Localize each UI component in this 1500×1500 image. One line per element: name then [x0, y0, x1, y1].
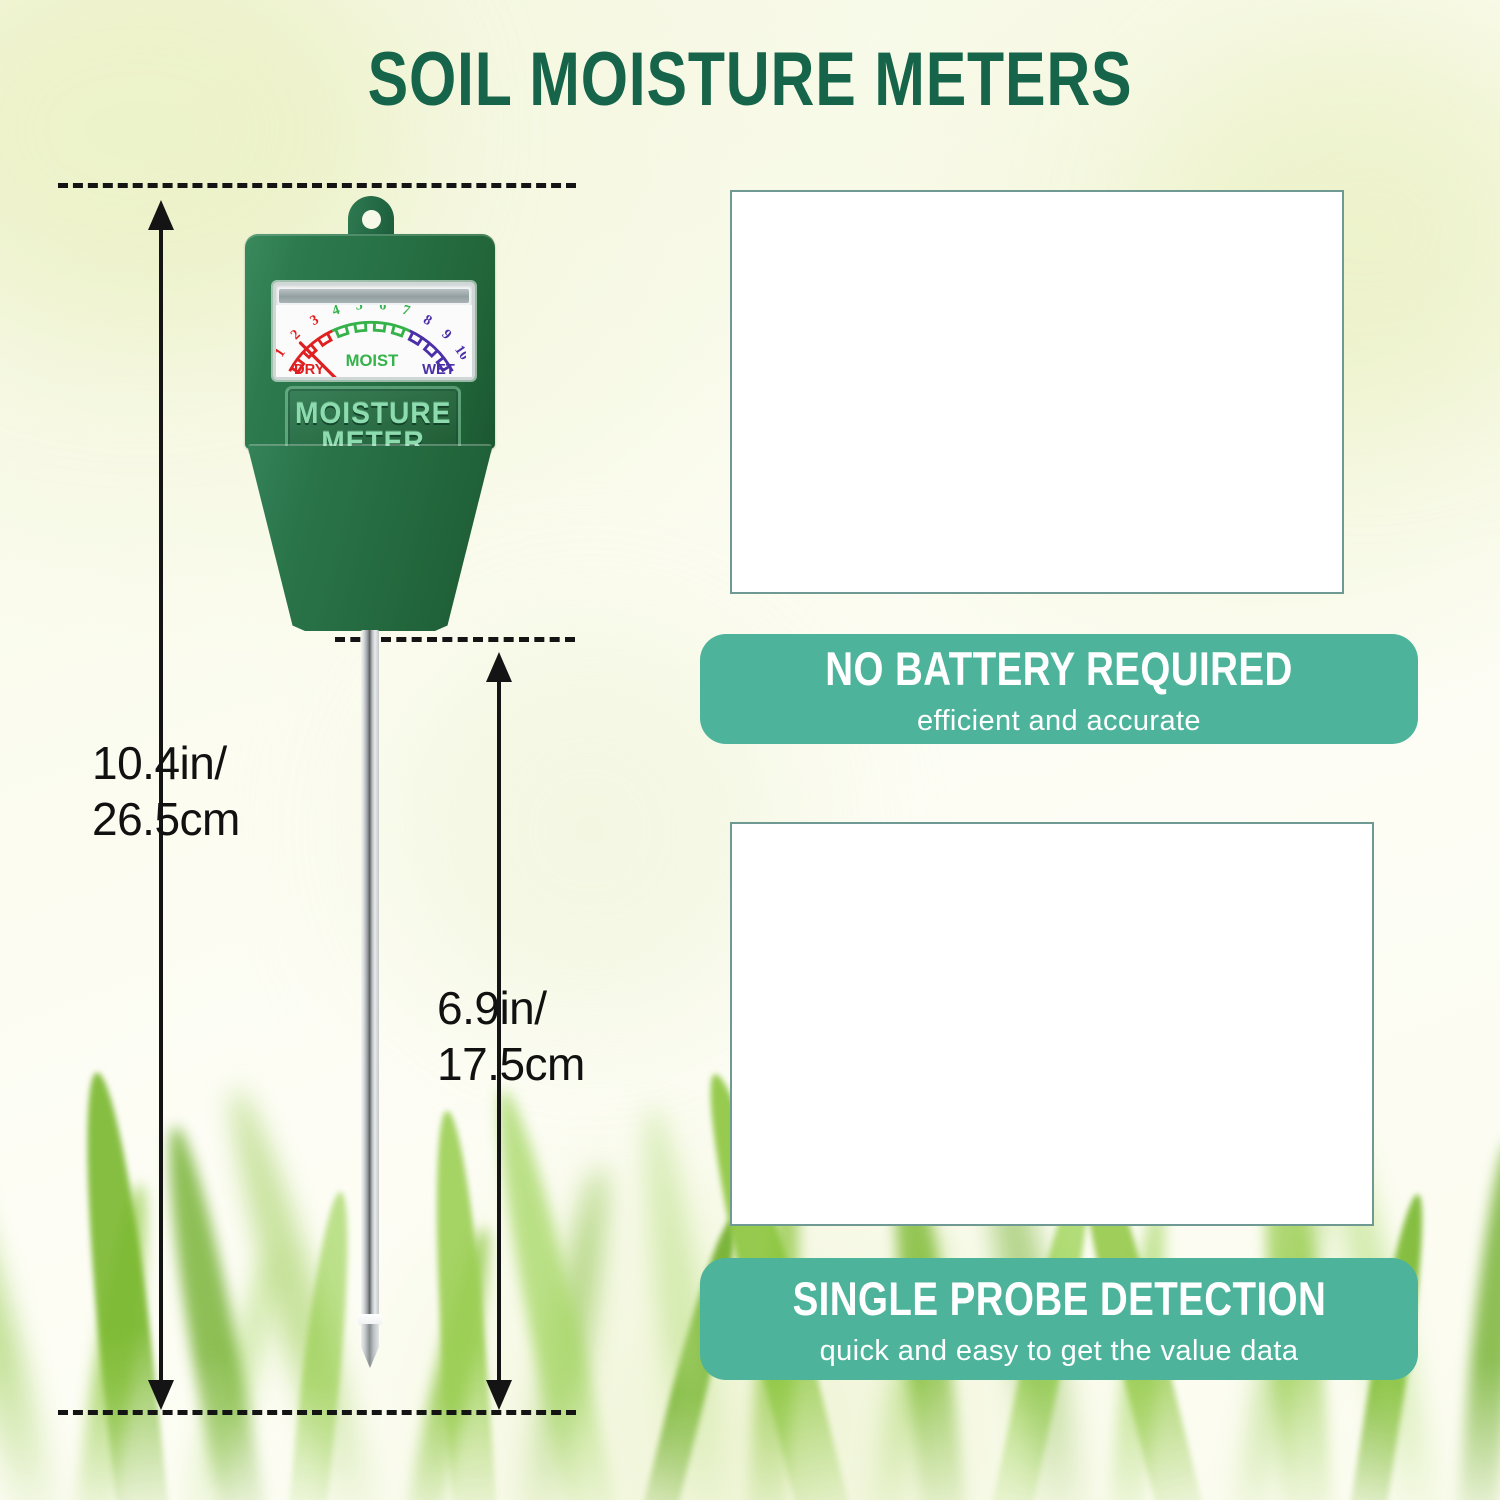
feature-subtitle-1: efficient and accurate — [917, 705, 1201, 738]
svg-text:5: 5 — [355, 305, 364, 314]
device-body: 12345678910DRYMOISTWET MOISTURE METER — [245, 234, 495, 449]
panel-probe-closeup — [730, 822, 1374, 1226]
gauge-label-wet: WET — [422, 362, 455, 377]
feature-title-2: SINGLE PROBE DETECTION — [792, 1271, 1326, 1326]
probe-rod — [361, 630, 379, 1330]
panel-gauge-closeup: 12345678910DRYMOISTWET MOISTURE — [730, 190, 1344, 594]
feature-banner-single-probe: SINGLE PROBE DETECTION quick and easy to… — [700, 1258, 1418, 1380]
svg-text:1: 1 — [276, 345, 289, 360]
dimension-line-top — [58, 183, 576, 188]
gauge-bezel-bar — [279, 289, 469, 303]
dimension-line-bottom — [58, 1410, 576, 1415]
svg-text:9: 9 — [438, 326, 454, 343]
page-title: SOIL MOISTURE METERS — [150, 36, 1350, 123]
probe-band — [358, 1314, 382, 1325]
arrow-down-total — [148, 1380, 174, 1410]
feature-banner-no-battery: NO BATTERY REQUIRED efficient and accura… — [700, 634, 1418, 744]
grass-blade — [0, 1117, 67, 1500]
probe-tip — [361, 1324, 379, 1368]
infographic-canvas: SOIL MOISTURE METERS 10.4in/ 26.5cm 6.9i… — [0, 0, 1500, 1500]
soil-moisture-meter-device: 12345678910DRYMOISTWET MOISTURE METER — [245, 196, 495, 1406]
svg-text:8: 8 — [420, 312, 434, 329]
gauge-label-dry: DRY — [294, 362, 325, 377]
gauge-dial-small: 12345678910DRYMOISTWET — [276, 305, 466, 377]
dimension-label-total: 10.4in/ 26.5cm — [92, 735, 240, 847]
device-taper — [245, 446, 495, 631]
gauge-window-small: 12345678910DRYMOISTWET — [273, 282, 475, 380]
gauge-face-small: 12345678910DRYMOISTWET — [276, 305, 472, 377]
svg-text:4: 4 — [330, 305, 342, 319]
gauge-label-moist: MOIST — [346, 351, 399, 370]
svg-text:10: 10 — [451, 342, 466, 363]
plate-line-1: MOISTURE — [295, 399, 451, 428]
svg-text:3: 3 — [307, 312, 321, 329]
svg-text:7: 7 — [400, 305, 412, 319]
grass-blade — [1455, 1140, 1500, 1500]
gauge-closeup-photo: 12345678910DRYMOISTWET MOISTURE — [1489, 388, 1500, 773]
svg-text:2: 2 — [288, 326, 304, 343]
feature-title-1: NO BATTERY REQUIRED — [825, 641, 1292, 696]
svg-text:6: 6 — [378, 305, 387, 314]
feature-subtitle-2: quick and easy to get the value data — [820, 1335, 1299, 1368]
